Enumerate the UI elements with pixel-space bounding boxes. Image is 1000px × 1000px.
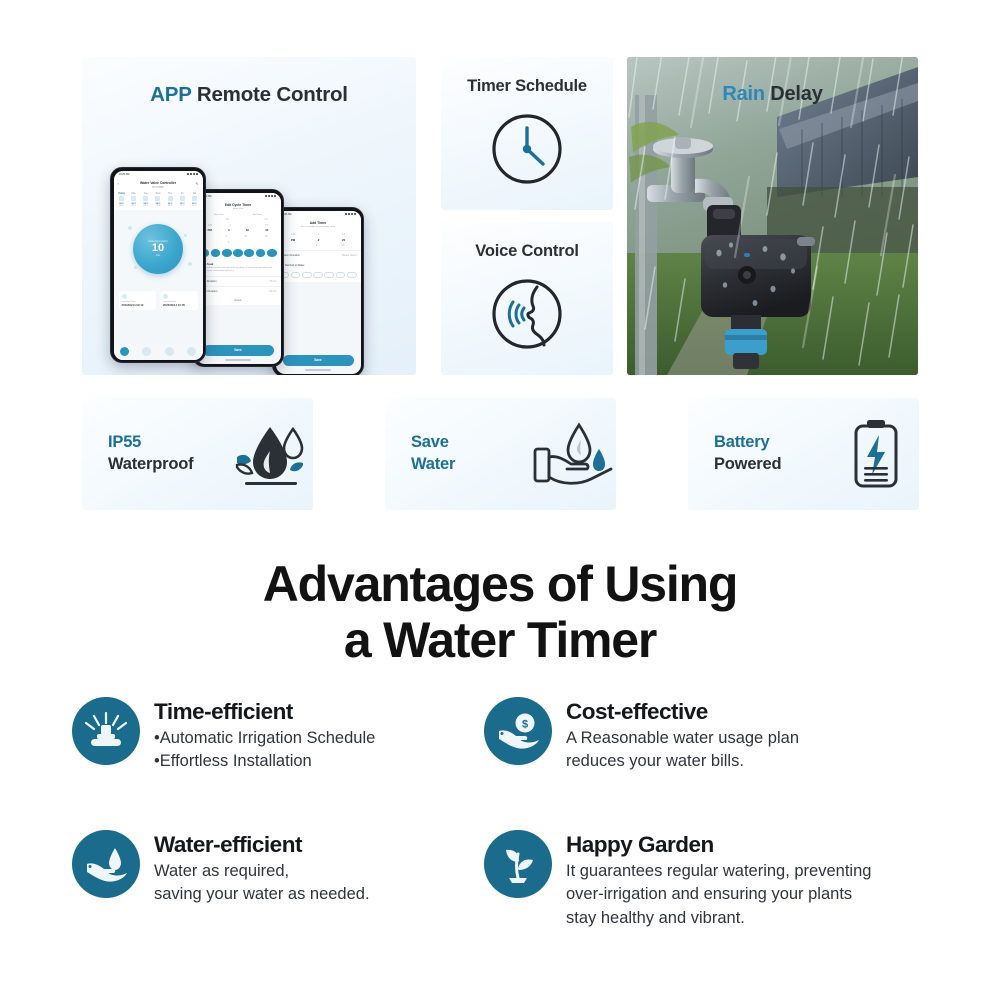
advantage-line: •Automatic Irrigation Schedule	[154, 727, 375, 750]
phone3-status-icons	[345, 213, 355, 215]
nav-item-schedule[interactable]	[142, 347, 151, 356]
phone3-time-picker[interactable]: AM110 PM220 330	[276, 230, 361, 251]
advantage-time-efficient: Time-efficient •Automatic Irrigation Sch…	[72, 697, 472, 774]
phone1-status-icons	[187, 173, 197, 175]
hand-with-droplet-icon	[529, 419, 616, 489]
hand-with-coin-icon: $	[484, 697, 552, 765]
advantage-line: saving your water as needed.	[154, 883, 370, 906]
cycle-soak-text: During rainfall, overflow detection wate…	[200, 267, 277, 273]
phone3-remind-checkbox-row[interactable]: Remind to Water	[276, 260, 361, 270]
info-card[interactable]: Last Run Time 2023/09/14 09:12	[119, 291, 157, 310]
row-value: 15 min	[269, 280, 276, 283]
advantage-body: Happy Garden It guarantees regular water…	[566, 830, 871, 930]
advantage-line: Water as required,	[154, 860, 370, 883]
picker-row: 330	[280, 243, 357, 249]
phone3-header: ✕ Add Timer Set a schedule for your wate…	[276, 218, 361, 230]
picker-col-end: End Time	[253, 214, 262, 216]
week-chip[interactable]	[324, 272, 334, 278]
sprout-plant-icon	[484, 830, 552, 898]
clock-small-icon	[122, 294, 127, 299]
badge-line1: IP55	[108, 432, 226, 454]
day-chip[interactable]	[233, 249, 243, 257]
timer-small-icon	[163, 294, 168, 299]
phone2-time-picker[interactable]: Start Time End Time 0000 AM115 PM35230 4…	[196, 212, 281, 247]
advantage-cost-effective: $ Cost-effective A Reasonable water usag…	[484, 697, 939, 774]
advantage-line: reduces your water bills.	[566, 750, 799, 773]
phone3-week-chips[interactable]	[276, 270, 361, 282]
weather-day: Sat36°C27°C	[188, 193, 200, 207]
svg-text:$: $	[522, 719, 528, 731]
nav-item-settings[interactable]	[187, 347, 196, 356]
advantage-line: stay healthy and vibrant.	[566, 907, 871, 930]
page-title-line2: a Water Timer	[0, 612, 1000, 668]
weather-day: Today38°C28°C	[116, 193, 128, 207]
phone1-dial-area: Watering Duration 10 min	[114, 210, 203, 288]
badge-line1: Save	[411, 432, 529, 454]
phone-mockup-dashboard: 10:25 AM ‹ ✎ Water Valve Controller MY H…	[110, 167, 206, 363]
day-chip[interactable]	[211, 249, 221, 257]
card-value: 2023/09/14 10:05	[163, 303, 195, 307]
week-chip[interactable]	[347, 272, 357, 278]
phone3-irrigation-duration-row[interactable]: Irrigation Duration Please Select	[276, 250, 361, 260]
info-card[interactable]: Last Duration 2023/09/14 10:05	[160, 291, 198, 310]
advantage-body: Cost-effective A Reasonable water usage …	[566, 697, 799, 774]
card-value: 2023/09/14 09:12	[122, 303, 154, 307]
page-title: Advantages of Using a Water Timer	[0, 556, 1000, 668]
sprinkler-icon	[72, 697, 140, 765]
battery-bolt-icon	[832, 417, 919, 491]
badge-ip55-waterproof: IP55 Waterproof	[82, 398, 313, 510]
row-value: Please Select	[342, 254, 357, 257]
badge-line1: Battery	[714, 432, 832, 454]
advantage-title: Water-efficient	[154, 832, 370, 858]
phone2-status-bar: 10:26 AM	[196, 193, 281, 200]
picker-row: AM110	[280, 232, 357, 238]
phone2-cycle-duration-row[interactable]: Cycle Duration 15 min	[196, 276, 281, 286]
advantage-water-efficient: Water-efficient Water as required, savin…	[72, 830, 472, 907]
badge-ip55-text: IP55 Waterproof	[108, 432, 226, 476]
badge-line2: Powered	[714, 454, 832, 476]
cycle-soak-title: Cycle Soak	[200, 263, 277, 266]
phone2-pause-duration-row[interactable]: Pause Duration 30 min	[196, 286, 281, 296]
phone2-subtitle: Smart Plan	[200, 208, 277, 210]
back-chevron-icon[interactable]: ‹	[118, 182, 119, 186]
weather-day: Thu33°C25°C	[164, 193, 176, 207]
picker-row-selected: PM220	[280, 237, 357, 243]
remind-label: Remind to Water	[285, 264, 304, 267]
badge-save-water-text: Save Water	[411, 432, 529, 476]
phone1-weather-week: Today38°C28°C Mon36°C29°C Tue34°C27°C We…	[114, 191, 203, 210]
phone2-cycle-soak-block: Cycle Soak During rainfall, overflow det…	[196, 260, 281, 276]
phone1-info-cards: Last Run Time 2023/09/14 09:12 Last Dura…	[114, 288, 203, 313]
advantage-title: Time-efficient	[154, 699, 375, 725]
phone2-header: ✕ Edit Cycle Timer Smart Plan	[196, 200, 281, 212]
day-chip[interactable]	[267, 249, 277, 257]
home-indicator	[305, 369, 331, 371]
nav-item-stats[interactable]	[165, 347, 174, 356]
water-droplets-splash-icon	[226, 417, 313, 491]
badge-save-water: Save Water	[385, 398, 616, 510]
advantage-line: A Reasonable water usage plan	[566, 727, 799, 750]
phone2-save-button[interactable]: Save	[203, 345, 274, 356]
phone3-subtitle: Set a schedule for your water valve	[280, 226, 357, 228]
phone1-status-bar: 10:25 AM	[114, 171, 203, 178]
edit-icon[interactable]: ✎	[195, 182, 198, 186]
advantage-body: Water-efficient Water as required, savin…	[154, 830, 370, 907]
phone3-title: Add Timer	[280, 221, 357, 225]
advantage-line: It guarantees regular watering, preventi…	[566, 860, 871, 883]
phone-mockup-add-timer: 10:28 AM ✕ Add Timer Set a schedule for …	[272, 207, 364, 375]
nav-item-home[interactable]	[120, 347, 129, 356]
week-chip[interactable]	[336, 272, 346, 278]
badge-battery-powered: Battery Powered	[688, 398, 919, 510]
phone2-title: Edit Cycle Timer	[200, 203, 277, 207]
dial-value: 10	[152, 243, 164, 254]
phone1-bottom-nav[interactable]	[114, 344, 203, 360]
week-chip[interactable]	[313, 272, 323, 278]
phone2-delete-button[interactable]: Delete	[196, 296, 281, 305]
picker-row: 5	[200, 239, 277, 245]
phone2-status-icons	[265, 195, 275, 197]
page-title-line1: Advantages of Using	[0, 556, 1000, 612]
badge-line2: Water	[411, 454, 529, 476]
day-chip[interactable]	[244, 249, 254, 257]
dial-unit: min	[156, 254, 160, 257]
phone3-status-bar: 10:28 AM	[276, 211, 361, 218]
weather-day: Wed34°C27°C	[152, 193, 164, 207]
advantage-line: over-irrigation and ensuring your plants	[566, 883, 871, 906]
day-chip[interactable]	[256, 249, 266, 257]
weather-day: Tue34°C27°C	[140, 193, 152, 207]
advantage-title: Cost-effective	[566, 699, 799, 725]
week-chip[interactable]	[291, 272, 301, 278]
week-chip[interactable]	[302, 272, 312, 278]
watering-duration-dial[interactable]: Watering Duration 10 min	[133, 224, 183, 274]
hand-with-water-drop-icon	[72, 830, 140, 898]
phone1-app-bar: ‹ ✎ Water Valve Controller MY HOME	[114, 178, 203, 191]
home-indicator	[225, 359, 251, 361]
advantage-line: •Effortless Installation	[154, 750, 375, 773]
phone1-app-title: Water Valve Controller	[119, 181, 198, 185]
phone1-app-subtitle: MY HOME	[119, 186, 198, 189]
row-value: 30 min	[269, 290, 276, 293]
weather-day: Fri35°C27°C	[176, 193, 188, 207]
advantage-happy-garden: Happy Garden It guarantees regular water…	[484, 830, 939, 930]
day-chip[interactable]	[222, 249, 232, 257]
phone3-save-button[interactable]: Save	[283, 355, 354, 366]
advantage-title: Happy Garden	[566, 832, 871, 858]
badge-line2: Waterproof	[108, 454, 226, 476]
badge-battery-text: Battery Powered	[714, 432, 832, 476]
phone1-status-time: 10:25 AM	[119, 173, 130, 176]
weather-day: Mon36°C29°C	[128, 193, 140, 207]
phone2-day-chips[interactable]	[196, 246, 281, 260]
advantage-body: Time-efficient •Automatic Irrigation Sch…	[154, 697, 375, 774]
picker-col-start: Start Time	[214, 214, 224, 216]
